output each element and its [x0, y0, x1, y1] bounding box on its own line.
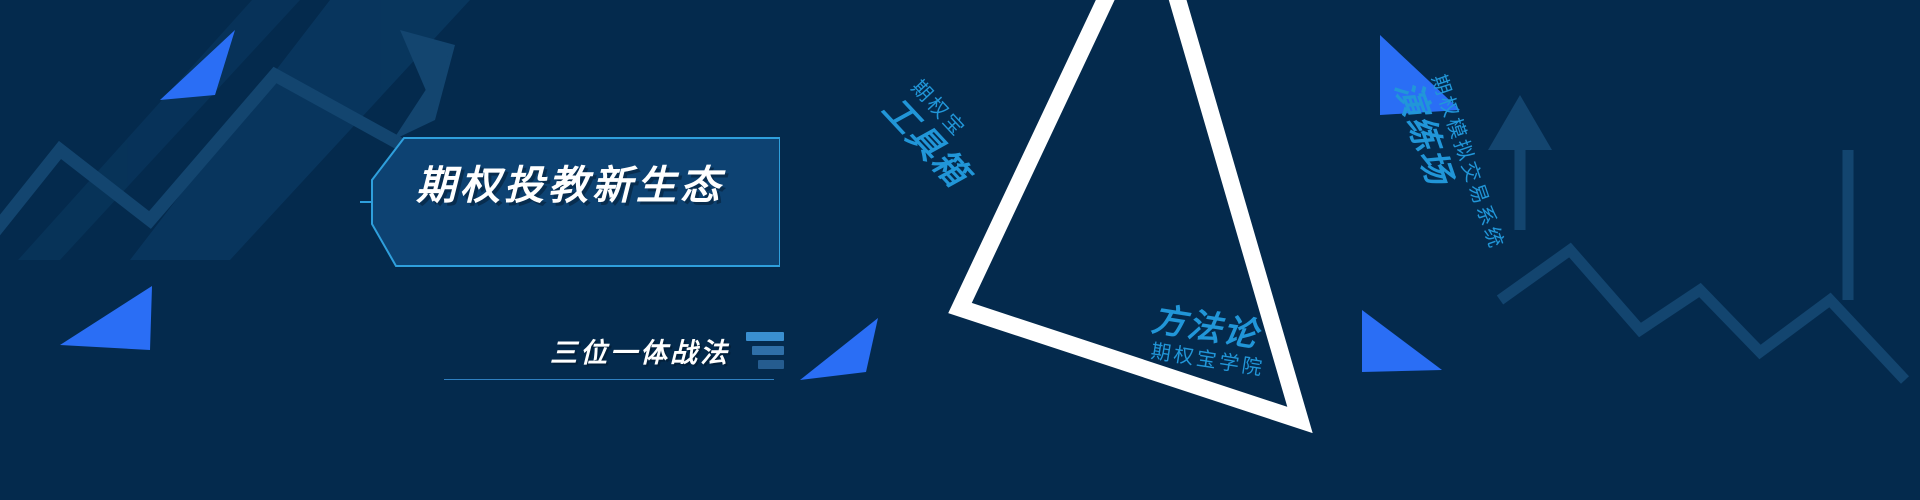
banner-canvas: 期权投教新生态 三位一体战法 期权宝 工具箱 期权模拟交易系统 演练场 方法论 …	[0, 0, 1920, 500]
triangle-diagram	[0, 0, 1920, 500]
triangle-outline	[960, 0, 1300, 420]
